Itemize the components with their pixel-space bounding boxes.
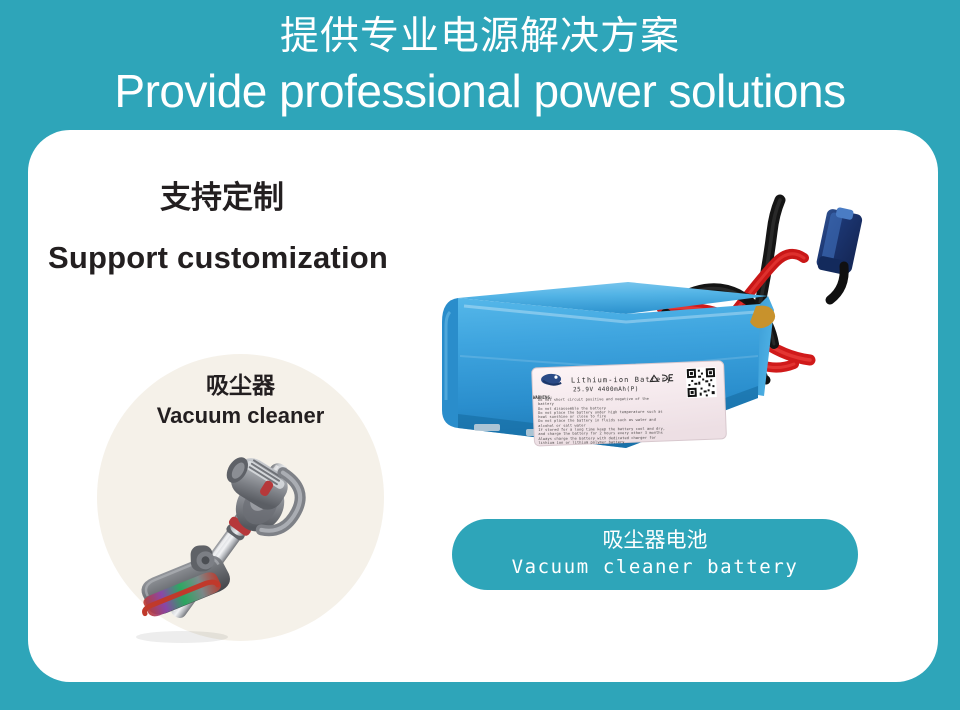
battery-pack-image: [430, 186, 950, 486]
banner-header: 提供专业电源解决方案 Provide professional power so…: [0, 0, 960, 130]
vacuum-badge-title-cn: 吸尘器: [97, 371, 384, 399]
caption-text-cn: 吸尘器电池: [452, 528, 858, 554]
header-title-cn: 提供专业电源解决方案: [0, 12, 960, 62]
customization-title-en: Support customization: [48, 236, 388, 280]
product-banner: 提供专业电源解决方案 Provide professional power so…: [0, 0, 960, 710]
customization-title-cn: 支持定制: [160, 178, 284, 218]
vacuum-badge-title-en: Vacuum cleaner: [97, 402, 384, 430]
header-title-en: Provide professional power solutions: [0, 62, 960, 120]
caption-text-en: Vacuum cleaner battery: [452, 554, 858, 580]
vacuum-cleaner-image: [110, 430, 350, 655]
